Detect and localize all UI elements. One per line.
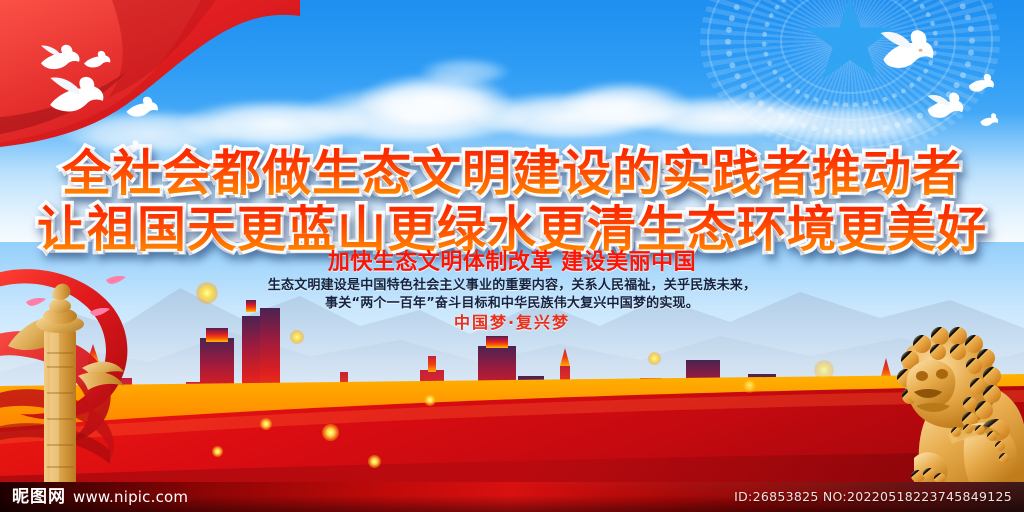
poster-canvas: 全社会都做生态文明建设的实践者推动者 全社会都做生态文明建设的实践者推动者 让祖…: [0, 0, 1024, 512]
site-name-label: 昵图网: [12, 487, 66, 507]
site-url-label: www.nipic.com: [73, 487, 188, 507]
footer-bar: 昵图网 www.nipic.com ID:26853825 NO:2022051…: [0, 482, 1024, 512]
nipic-logo[interactable]: 昵图网 www.nipic.com: [12, 487, 188, 507]
huabiao-column-icon: [0, 268, 156, 512]
red-flag-icon: [0, 0, 300, 164]
guardian-lion-icon: [870, 318, 1024, 498]
asset-id-label: ID:26853825 NO:20220518223745849125: [734, 489, 1012, 504]
